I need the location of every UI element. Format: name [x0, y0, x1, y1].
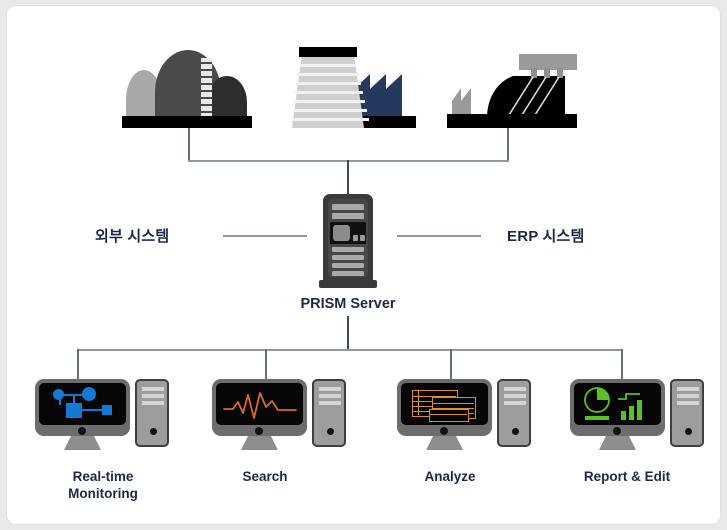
monitor-stand: [397, 436, 492, 450]
cooling-tower-shape: [282, 46, 372, 128]
connector-drop-analyze: [450, 349, 452, 379]
station-analyze-pc: [497, 379, 531, 447]
monitor-stand: [35, 436, 130, 450]
connector-source-right: [507, 128, 509, 162]
hydro-dam-plant-icon: [447, 46, 577, 126]
connector-drop-search: [265, 349, 267, 379]
diagram-card: PRISM Server 외부 시스템 ERP 시스템: [7, 6, 720, 524]
station-monitoring-pc: [135, 379, 169, 447]
connector-external-to-server: [223, 235, 307, 237]
connector-source-left: [188, 128, 190, 162]
monitor-stand: [570, 436, 665, 450]
connector-bus-to-server: [347, 160, 349, 194]
waveform-chart-icon: [216, 383, 303, 425]
connector-station-bus: [77, 349, 623, 351]
connector-server-down: [347, 316, 349, 350]
station-label-analyze: Analyze: [370, 468, 530, 485]
power-plant-factory-icon: [282, 46, 417, 126]
station-label-monitoring: Real-time Monitoring: [23, 468, 183, 502]
oil-storage-tanks-icon: [122, 46, 252, 126]
station-report-pc: [670, 379, 704, 447]
monitor-stand: [212, 436, 307, 450]
data-table-front: [429, 409, 469, 422]
server-tower-icon: [319, 194, 377, 290]
station-label-search: Search: [185, 468, 345, 485]
connector-drop-report: [621, 349, 623, 379]
station-search-pc: [312, 379, 346, 447]
diagram-canvas: PRISM Server 외부 시스템 ERP 시스템: [0, 0, 727, 530]
server-label: PRISM Server: [288, 296, 408, 312]
erp-system-label: ERP 시스템: [507, 225, 647, 246]
pie-bar-chart-icon: [574, 383, 661, 425]
connector-server-to-erp: [397, 235, 481, 237]
station-label-report: Report & Edit: [547, 468, 707, 485]
external-system-label: 외부 시스템: [95, 225, 215, 246]
connector-drop-monitoring: [77, 349, 79, 379]
